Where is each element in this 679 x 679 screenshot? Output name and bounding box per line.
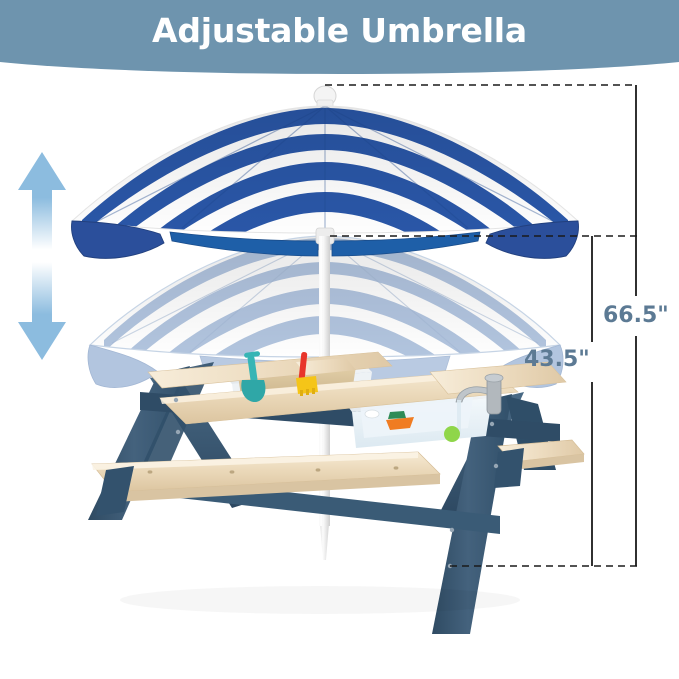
product-illustration [0,0,679,679]
page-title: Adjustable Umbrella [0,11,679,51]
ball-toy [444,426,460,442]
small-toy [365,410,379,418]
picnic-table [88,351,584,634]
dimension-label-lower: 43.5" [524,347,590,372]
header-banner: Adjustable Umbrella [0,0,679,80]
infographic-canvas: 66.5" 43.5" Adjustable Umbrella [0,0,679,679]
height-adjust-arrow [18,152,66,360]
dimension-label-upper: 66.5" [603,303,669,328]
